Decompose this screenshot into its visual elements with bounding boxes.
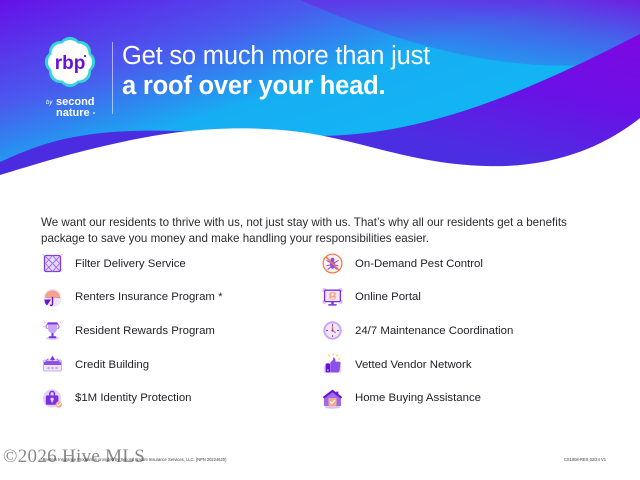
- thumbs-up-icon: [321, 353, 344, 376]
- benefit-item: Home Buying Assistance: [321, 381, 601, 415]
- benefit-item: $1M Identity Protection: [41, 381, 321, 415]
- air-filter-icon: [41, 252, 64, 275]
- umbrella-icon: [41, 286, 64, 309]
- trophy-icon: [41, 319, 64, 342]
- legal-disclaimer: *Renters Insurance Program is provided b…: [41, 457, 226, 463]
- rbp-logo-lockup: rbp by second nature: [36, 33, 104, 118]
- benefit-label: Credit Building: [75, 359, 149, 371]
- house-icon: [321, 387, 344, 410]
- benefits-grid: Filter Delivery Service Renters Insuranc…: [41, 247, 601, 415]
- benefit-label: Online Portal: [355, 291, 421, 303]
- benefit-item: Renters Insurance Program *: [41, 281, 321, 315]
- benefit-label: Home Buying Assistance: [355, 392, 481, 404]
- benefit-label: Vetted Vendor Network: [355, 359, 472, 371]
- logo-sub-line2: nature: [56, 107, 90, 119]
- benefits-column-left: Filter Delivery Service Renters Insuranc…: [41, 247, 321, 415]
- benefit-label: Renters Insurance Program *: [75, 291, 223, 303]
- logo-sub-prefix: by: [46, 100, 53, 106]
- benefit-label: 24/7 Maintenance Coordination: [355, 325, 513, 337]
- benefit-item: Resident Rewards Program: [41, 314, 321, 348]
- benefit-label: On-Demand Pest Control: [355, 258, 483, 270]
- second-nature-wordmark: by second nature: [40, 93, 100, 118]
- benefit-item: Online Portal: [321, 281, 601, 315]
- intro-paragraph: We want our residents to thrive with us,…: [41, 215, 589, 248]
- rbp-logo-mark: rbp: [41, 33, 99, 90]
- second-nature-text-icon: by second nature: [40, 93, 100, 119]
- headline-line-2: a roof over your head.: [122, 72, 602, 101]
- benefit-item: 24/7 Maintenance Coordination: [321, 314, 601, 348]
- hero-divider: [112, 42, 113, 114]
- headline-line-1: Get so much more than just: [122, 42, 602, 71]
- hero-banner: rbp by second nature Get so much more th…: [0, 0, 640, 175]
- clock-icon: [321, 319, 344, 342]
- hero-headline: Get so much more than just a roof over y…: [122, 42, 602, 101]
- page-root: rbp by second nature Get so much more th…: [0, 0, 640, 480]
- benefit-label: $1M Identity Protection: [75, 392, 192, 404]
- benefit-item: Filter Delivery Service: [41, 247, 321, 281]
- monitor-icon: [321, 286, 344, 309]
- rbp-rosette-icon: rbp: [41, 33, 99, 91]
- benefit-item: Credit Building: [41, 348, 321, 382]
- benefit-label: Resident Rewards Program: [75, 325, 215, 337]
- benefit-item: Vetted Vendor Network: [321, 348, 601, 382]
- benefits-column-right: On-Demand Pest Control Online Portal: [321, 247, 601, 415]
- credit-badge-icon: [41, 353, 64, 376]
- benefit-item: On-Demand Pest Control: [321, 247, 601, 281]
- document-code: CS1008-RES 02/24 V1: [564, 457, 606, 463]
- benefit-label: Filter Delivery Service: [75, 258, 186, 270]
- rbp-logo-text: rbp: [55, 53, 86, 74]
- no-pest-icon: [321, 252, 344, 275]
- identity-lock-icon: [41, 387, 64, 410]
